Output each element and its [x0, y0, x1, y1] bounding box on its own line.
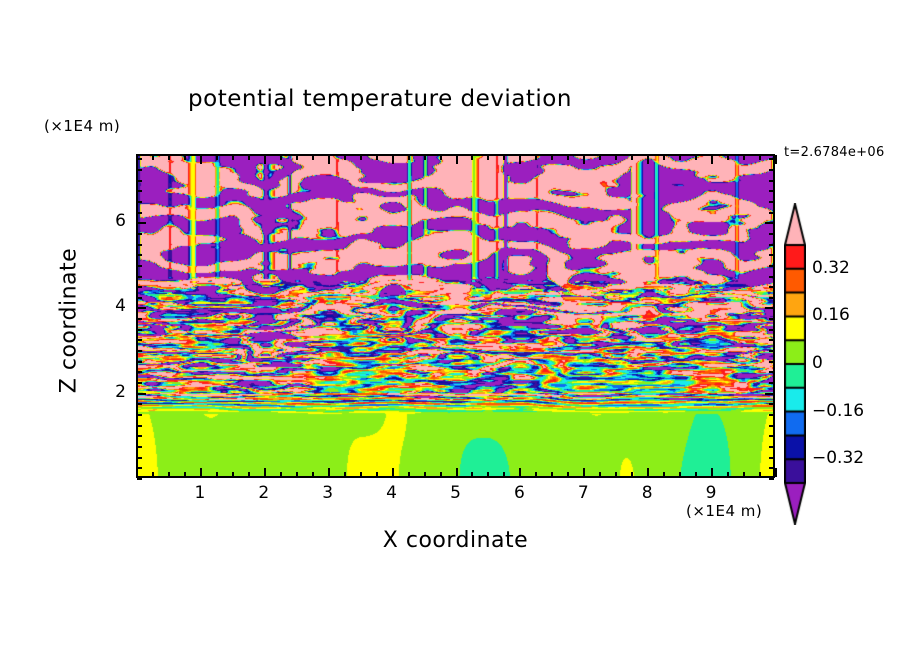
z-tick — [137, 350, 142, 352]
x-tick — [663, 155, 665, 160]
z-tick — [137, 329, 142, 331]
z-tick — [765, 222, 774, 224]
z-tick — [137, 190, 142, 192]
x-tick — [264, 468, 266, 477]
z-tick — [137, 276, 142, 278]
x-tick — [743, 155, 745, 160]
z-tick — [769, 371, 774, 373]
z-tick — [137, 382, 142, 384]
x-tick — [168, 155, 170, 160]
y-axis-title: Z coordinate — [57, 211, 82, 431]
x-tick — [392, 155, 394, 164]
z-tick — [137, 339, 142, 341]
x-tick — [232, 472, 234, 477]
z-tick — [137, 371, 142, 373]
x-tick — [184, 472, 186, 477]
x-tick — [312, 472, 314, 477]
x-tick — [727, 155, 729, 160]
x-tick — [216, 472, 218, 477]
z-tick — [769, 350, 774, 352]
page-title: potential temperature deviation — [0, 86, 760, 112]
x-tick — [168, 472, 170, 477]
x-tick — [503, 472, 505, 477]
z-tick — [769, 382, 774, 384]
x-axis-unit-label: (×1E4 m) — [686, 502, 762, 520]
z-tick — [769, 414, 774, 416]
x-tick — [759, 155, 761, 160]
z-tick — [137, 169, 142, 171]
x-tick — [456, 155, 458, 164]
z-tick — [769, 212, 774, 214]
z-tick — [769, 403, 774, 405]
x-tick — [248, 155, 250, 160]
x-tick — [328, 155, 330, 164]
z-tick — [137, 222, 146, 224]
x-tick-label: 8 — [632, 483, 662, 503]
x-tick-label: 2 — [249, 483, 279, 503]
x-tick — [471, 155, 473, 160]
x-axis-title: X coordinate — [136, 528, 775, 553]
x-tick-label: 4 — [377, 483, 407, 503]
x-tick — [152, 472, 154, 477]
x-tick — [487, 155, 489, 160]
z-tick-label: 6 — [92, 211, 126, 231]
z-tick — [137, 446, 142, 448]
x-tick — [360, 155, 362, 160]
z-tick — [769, 435, 774, 437]
x-tick — [360, 472, 362, 477]
z-tick — [137, 435, 142, 437]
x-tick — [695, 472, 697, 477]
x-tick — [615, 155, 617, 160]
z-tick — [137, 212, 142, 214]
x-tick — [743, 472, 745, 477]
x-tick — [519, 155, 521, 164]
x-tick — [631, 472, 633, 477]
x-tick — [551, 472, 553, 477]
x-tick — [296, 472, 298, 477]
colorbar-tick-label: −0.32 — [812, 448, 864, 468]
x-tick — [567, 155, 569, 160]
colorbar-tick-label: 0 — [812, 353, 823, 373]
x-tick — [216, 155, 218, 160]
colorbar-tick-label: 0.16 — [812, 305, 850, 325]
x-tick-label: 6 — [504, 483, 534, 503]
z-tick — [137, 254, 142, 256]
x-tick — [344, 155, 346, 160]
x-tick — [440, 472, 442, 477]
x-tick — [679, 472, 681, 477]
z-tick — [137, 425, 142, 427]
x-tick — [344, 472, 346, 477]
z-tick — [137, 233, 142, 235]
x-tick — [376, 155, 378, 160]
x-tick — [440, 155, 442, 160]
y-axis-unit-label: (×1E4 m) — [44, 117, 120, 135]
x-tick — [711, 155, 713, 164]
z-tick — [137, 307, 146, 309]
x-tick — [264, 155, 266, 164]
x-tick-label: 9 — [696, 483, 726, 503]
x-tick — [152, 155, 154, 160]
z-tick — [137, 244, 142, 246]
z-tick — [137, 478, 142, 480]
z-tick — [769, 467, 774, 469]
x-tick — [535, 472, 537, 477]
z-tick — [769, 276, 774, 278]
z-tick — [769, 329, 774, 331]
z-tick — [769, 265, 774, 267]
x-tick — [647, 468, 649, 477]
z-tick — [765, 393, 774, 395]
x-tick — [775, 155, 777, 164]
x-tick — [392, 468, 394, 477]
z-tick — [769, 297, 774, 299]
x-tick — [136, 468, 138, 477]
z-tick — [137, 201, 142, 203]
x-tick — [408, 155, 410, 160]
time-stamp: t=2.6784e+06 — [784, 145, 885, 160]
x-tick — [408, 472, 410, 477]
x-tick — [759, 472, 761, 477]
z-tick — [137, 265, 142, 267]
z-tick — [769, 286, 774, 288]
x-tick-label: 7 — [568, 483, 598, 503]
z-tick — [137, 361, 142, 363]
x-tick-label: 1 — [185, 483, 215, 503]
x-tick-label: 5 — [441, 483, 471, 503]
colorbar-gradient — [784, 203, 806, 525]
x-tick — [775, 468, 777, 477]
x-tick — [583, 468, 585, 477]
z-tick — [769, 425, 774, 427]
z-tick — [769, 339, 774, 341]
x-tick — [296, 155, 298, 160]
x-tick — [519, 468, 521, 477]
z-tick — [769, 158, 774, 160]
z-tick — [765, 307, 774, 309]
x-tick — [583, 155, 585, 164]
z-tick — [769, 478, 774, 480]
z-tick — [137, 403, 142, 405]
z-tick — [769, 318, 774, 320]
x-tick — [695, 155, 697, 160]
z-tick — [769, 233, 774, 235]
x-tick — [456, 468, 458, 477]
z-tick — [769, 169, 774, 171]
x-tick — [727, 472, 729, 477]
x-tick — [184, 155, 186, 160]
z-tick — [769, 201, 774, 203]
x-tick — [711, 468, 713, 477]
colorbar — [784, 203, 806, 525]
x-tick — [503, 155, 505, 160]
x-tick — [663, 472, 665, 477]
z-tick — [769, 457, 774, 459]
z-tick — [137, 318, 142, 320]
x-tick — [487, 472, 489, 477]
x-tick — [599, 472, 601, 477]
x-tick — [567, 472, 569, 477]
x-tick — [551, 155, 553, 160]
contour-field — [138, 156, 775, 478]
z-tick — [137, 180, 142, 182]
z-tick — [769, 244, 774, 246]
z-tick — [137, 467, 142, 469]
x-tick — [647, 155, 649, 164]
x-tick — [631, 155, 633, 160]
colorbar-tick-label: 0.32 — [812, 258, 850, 278]
x-tick — [328, 468, 330, 477]
z-tick — [137, 393, 146, 395]
x-tick — [200, 155, 202, 164]
x-tick — [615, 472, 617, 477]
x-tick — [280, 472, 282, 477]
z-tick-label: 4 — [92, 296, 126, 316]
plot-area — [136, 154, 775, 478]
z-tick — [137, 414, 142, 416]
z-tick — [137, 297, 142, 299]
x-tick — [535, 155, 537, 160]
x-tick-label: 3 — [313, 483, 343, 503]
z-tick-label: 2 — [92, 382, 126, 402]
x-tick — [471, 472, 473, 477]
colorbar-tick-label: −0.16 — [812, 401, 864, 421]
z-tick — [769, 180, 774, 182]
x-tick — [248, 472, 250, 477]
x-tick — [312, 155, 314, 160]
x-tick — [679, 155, 681, 160]
x-tick — [232, 155, 234, 160]
x-tick — [376, 472, 378, 477]
x-tick — [424, 155, 426, 160]
z-tick — [137, 158, 142, 160]
z-tick — [769, 446, 774, 448]
z-tick — [769, 254, 774, 256]
z-tick — [769, 190, 774, 192]
x-tick — [599, 155, 601, 160]
x-tick — [280, 155, 282, 160]
z-tick — [137, 457, 142, 459]
z-tick — [137, 286, 142, 288]
x-tick — [200, 468, 202, 477]
z-tick — [769, 361, 774, 363]
x-tick — [424, 472, 426, 477]
